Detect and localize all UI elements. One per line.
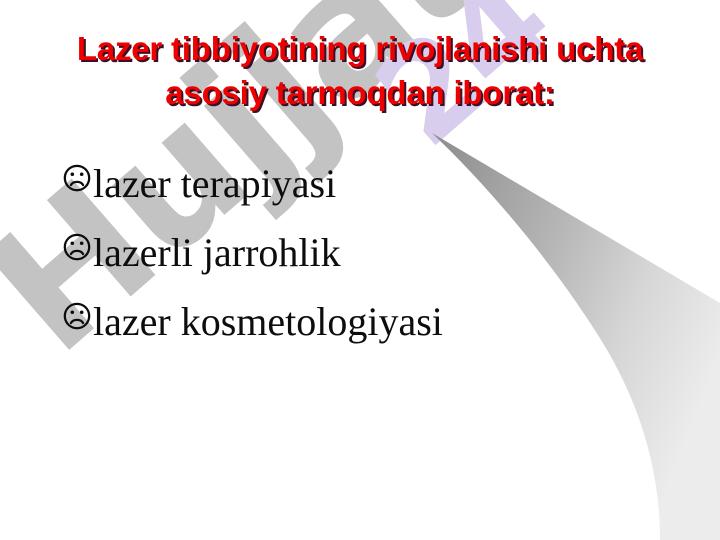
frowning-face-icon <box>62 221 92 251</box>
list-item-label: lazer terapiyasi <box>93 156 336 212</box>
list-item: lazer terapiyasi <box>62 156 682 212</box>
list-item-label: lazer kosmetologiyasi <box>93 294 443 350</box>
slide-canvas: Hujjat 24 Lazer tibbiyotining rivojlanis… <box>0 0 720 540</box>
frowning-face-icon <box>62 290 92 320</box>
frowning-face-icon <box>62 152 92 182</box>
list-item-label: lazerli jarrohlik <box>93 225 341 281</box>
slide-title: Lazer tibbiyotining rivojlanishi uchta a… <box>18 27 702 115</box>
list-item: lazer kosmetologiyasi <box>62 294 682 350</box>
list-item: lazerli jarrohlik <box>62 225 682 281</box>
slide-title-line-1: Lazer tibbiyotining rivojlanishi uchta <box>18 27 702 71</box>
bullet-list: lazer terapiyasi lazerli jarrohlik <box>62 156 682 363</box>
slide-title-line-2: asosiy tarmoqdan iborat: <box>18 71 702 115</box>
